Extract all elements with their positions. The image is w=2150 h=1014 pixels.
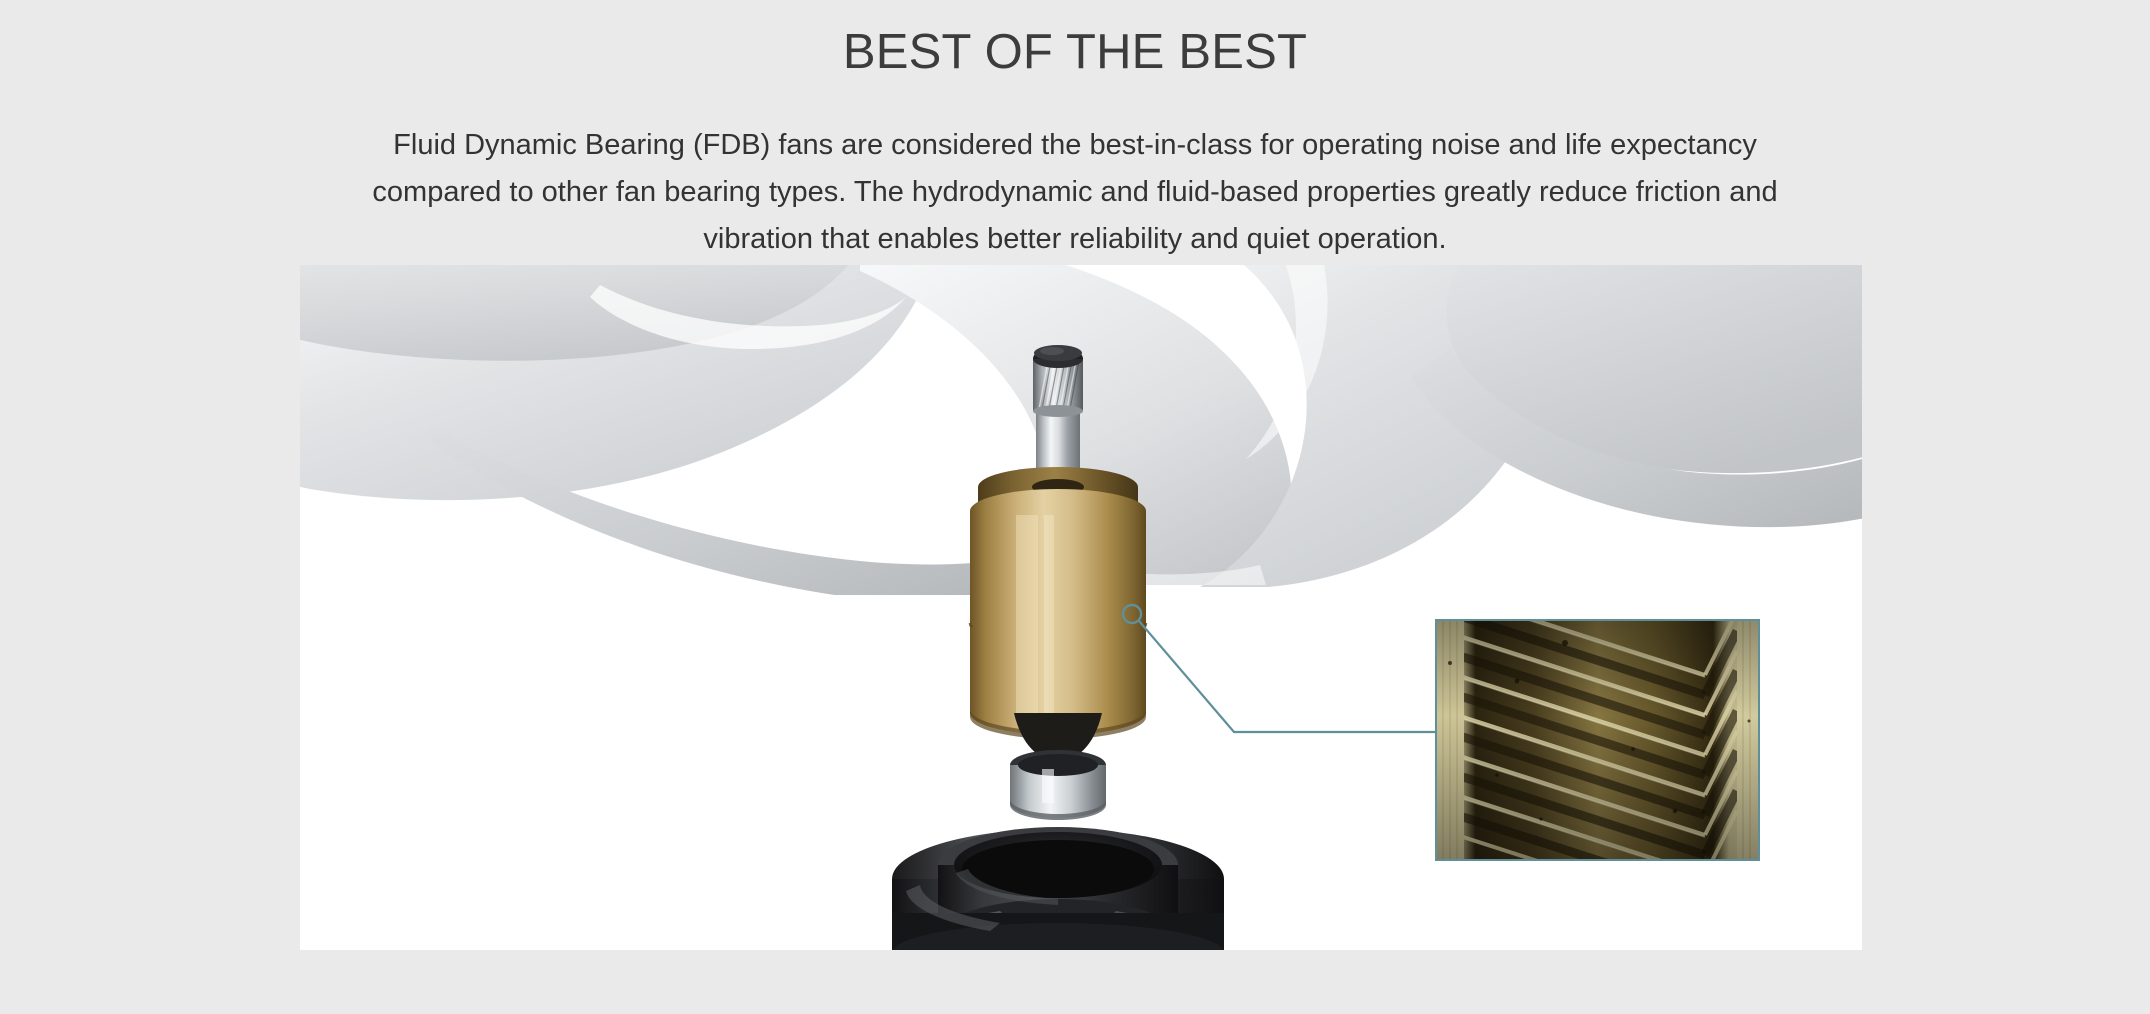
herringbone-groove-micrograph	[1437, 621, 1758, 859]
page-title: BEST OF THE BEST	[0, 22, 2150, 82]
callout-circle-marker	[1123, 605, 1141, 623]
groove-detail-inset	[1435, 619, 1760, 861]
section-description: Fluid Dynamic Bearing (FDB) fans are con…	[345, 122, 1805, 263]
figure-panel	[300, 265, 1862, 950]
page-root: BEST OF THE BEST Fluid Dynamic Bearing (…	[0, 0, 2150, 1014]
fan-impeller-blades	[300, 265, 1862, 595]
